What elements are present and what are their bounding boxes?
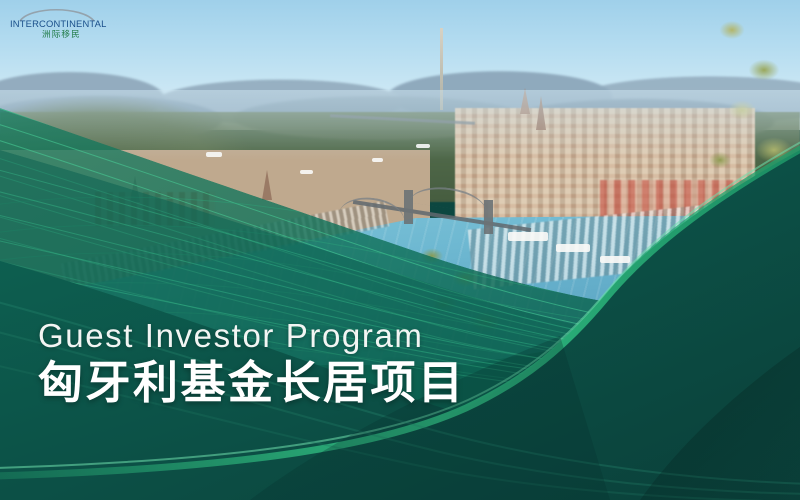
rooftops-left bbox=[95, 192, 215, 226]
parliament-spire bbox=[520, 88, 530, 114]
page-title-chinese: 匈牙利基金长居项目 bbox=[38, 357, 466, 408]
logo-wordmark-cn: 洲际移民 bbox=[42, 28, 81, 40]
boat bbox=[372, 158, 383, 162]
church-spire bbox=[130, 176, 140, 202]
church-spire bbox=[262, 170, 272, 200]
foreground-tree-right bbox=[702, 0, 800, 260]
boat bbox=[556, 244, 590, 252]
logo-wordmark: INTERCONTINENTAL bbox=[10, 18, 106, 29]
promo-banner: INTERCONTINENTAL 洲际移民 Guest Investor Pro… bbox=[0, 0, 800, 500]
brand-logo[interactable]: INTERCONTINENTAL 洲际移民 bbox=[8, 4, 120, 40]
boat bbox=[300, 170, 313, 174]
headline-block: Guest Investor Program 匈牙利基金长居项目 bbox=[38, 318, 466, 408]
boat bbox=[206, 152, 222, 157]
background-photo bbox=[0, 0, 800, 500]
tv-tower bbox=[440, 28, 443, 110]
chain-bridge-pylon bbox=[484, 200, 493, 234]
parliament-spire bbox=[536, 96, 546, 130]
boat bbox=[416, 144, 430, 148]
page-title-english: Guest Investor Program bbox=[38, 318, 466, 355]
boat bbox=[600, 256, 630, 263]
